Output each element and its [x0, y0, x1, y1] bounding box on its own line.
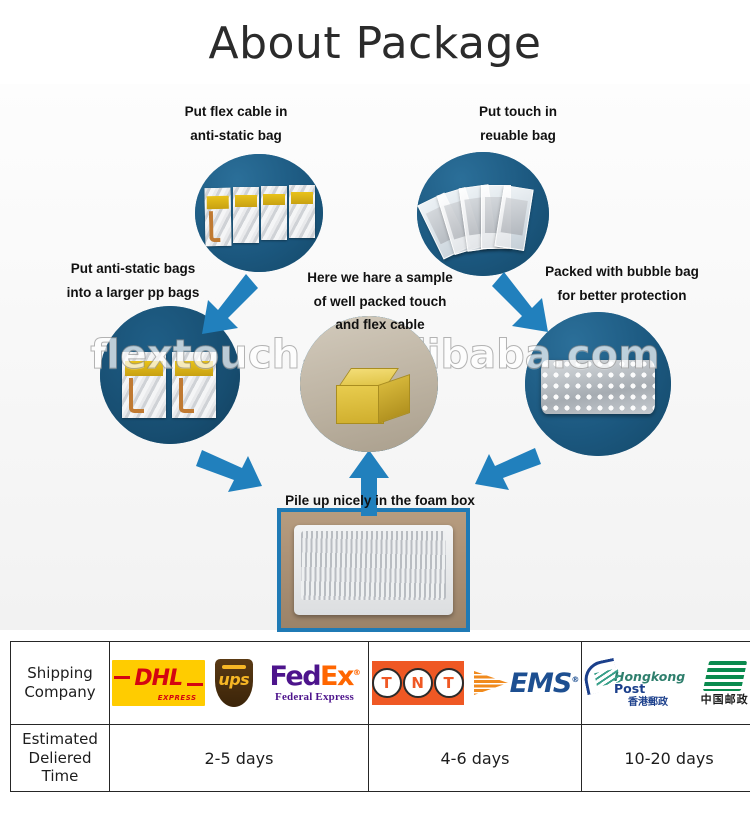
dhl-logo: DHL EXPRESS: [112, 660, 205, 706]
caption-line-1: Pile up nicely in the foam box: [240, 489, 520, 513]
fedex-wordmark: FedEx®: [263, 663, 366, 690]
caption-line-1: Put touch in: [400, 100, 636, 124]
fedex-word-ex: Ex: [320, 661, 353, 692]
ems-wordmark: EMS®: [510, 668, 579, 699]
table-row-delivery-times: Estimated Deliered Time 2-5 days 4-6 day…: [11, 725, 750, 792]
ems-registered-mark: ®: [571, 675, 578, 684]
bag-label: [263, 194, 286, 206]
caption-step-foam-box: Pile up nicely in the foam box: [240, 489, 520, 513]
bag-label: [125, 361, 164, 376]
bag-label: [291, 192, 314, 204]
stacked-touch-panels: [301, 531, 445, 601]
bag-label: [235, 195, 258, 207]
hongkong-post-logo: Hongkong Post 香港郵政: [584, 659, 685, 708]
bag-label: [206, 196, 229, 209]
caption-line-1: Here we hare a sample: [262, 266, 498, 290]
logos-express-group: DHL EXPRESS ups FedEx® Federal Express: [110, 642, 369, 725]
photo-touch-in-reusable-bag: [417, 152, 549, 276]
header-estimated-time: Estimated Deliered Time: [11, 725, 110, 792]
hkpost-chinese-name: 香港郵政: [628, 698, 685, 708]
header-line-1: Estimated: [12, 730, 108, 749]
days-tnt-ems-group: 4-6 days: [369, 725, 582, 792]
china-post-mark-icon: [702, 661, 746, 691]
header-shipping-company: Shipping Company: [11, 642, 110, 725]
bubble-wrap-bag: [541, 360, 655, 414]
hongkong-post-bird-icon: [581, 657, 620, 694]
dhl-subtext: EXPRESS: [112, 694, 197, 702]
caption-step-flex-cable-bag: Put flex cable in anti-static bag: [108, 100, 364, 147]
logos-tnt-ems-group: T N T EMS®: [369, 642, 582, 725]
flex-cable: [129, 378, 144, 412]
days-express-group: 2-5 days: [110, 725, 369, 792]
caption-line-2: anti-static bag: [108, 124, 364, 148]
table-row-companies: Shipping Company DHL EXPRESS ups: [11, 642, 750, 725]
ups-wordmark: ups: [215, 670, 253, 689]
header-line-3: Time: [12, 767, 108, 786]
photo-flex-cable-in-anti-static-bag: [195, 154, 323, 272]
dhl-wordmark: DHL: [118, 669, 199, 689]
tnt-letter: T: [372, 668, 402, 698]
caption-line-3: and flex cable: [262, 313, 498, 337]
hongkong-post-wordmark: Hongkong Post: [614, 659, 685, 696]
tnt-letter: T: [434, 668, 464, 698]
yellow-carton-box: [336, 368, 410, 424]
carton-front: [336, 385, 384, 424]
ups-logo: ups: [215, 659, 253, 707]
header-line-2: Deliered: [12, 749, 108, 768]
arrow-step1-to-step3: [188, 270, 260, 348]
flex-cable: [209, 211, 220, 242]
china-post-chinese-name: 中国邮政: [695, 694, 750, 705]
ems-logo: EMS®: [474, 668, 579, 699]
caption-line-1: Put flex cable in: [108, 100, 364, 124]
page-title: About Package: [0, 18, 750, 69]
fedex-logo: FedEx® Federal Express: [263, 663, 366, 703]
header-line-1: Shipping: [12, 664, 108, 683]
tnt-logo: T N T: [372, 661, 464, 705]
days-post-group: 10-20 days: [582, 725, 750, 792]
fedex-registered-mark: ®: [353, 668, 360, 677]
ems-chevron-icon: [474, 671, 508, 695]
fedex-word-fed: Fed: [270, 661, 321, 692]
caption-line-2: of well packed touch: [262, 290, 498, 314]
logos-post-group: Hongkong Post 香港郵政 中国邮政: [582, 642, 750, 725]
ups-belt: [222, 665, 246, 669]
anti-static-bag: [204, 188, 231, 246]
anti-static-bag: [261, 186, 287, 240]
anti-static-bag: [233, 187, 259, 243]
ems-word: EMS: [510, 668, 572, 699]
tnt-letter: N: [403, 668, 433, 698]
arrow-step2-to-step5: [490, 268, 564, 346]
bag-label: [175, 361, 214, 376]
caption-line-2: reuable bag: [400, 124, 636, 148]
shipping-table: Shipping Company DHL EXPRESS ups: [10, 641, 750, 792]
package-infographic: About Package Put flex cable in anti-sta…: [0, 0, 750, 814]
pp-bag-bundle: [172, 352, 216, 418]
diagram-area: Put flex cable in anti-static bag Put to…: [0, 84, 750, 630]
header-line-2: Company: [12, 683, 108, 702]
china-post-logo: 中国邮政: [695, 661, 750, 705]
photo-foam-box: [277, 508, 470, 632]
caption-step-sample: Here we hare a sample of well packed tou…: [262, 266, 498, 337]
caption-step-touch-bag: Put touch in reuable bag: [400, 100, 636, 147]
fedex-subtext: Federal Express: [263, 692, 366, 703]
anti-static-bag: [289, 185, 315, 238]
flex-cable: [179, 378, 194, 412]
pp-bag-bundle: [122, 352, 166, 418]
